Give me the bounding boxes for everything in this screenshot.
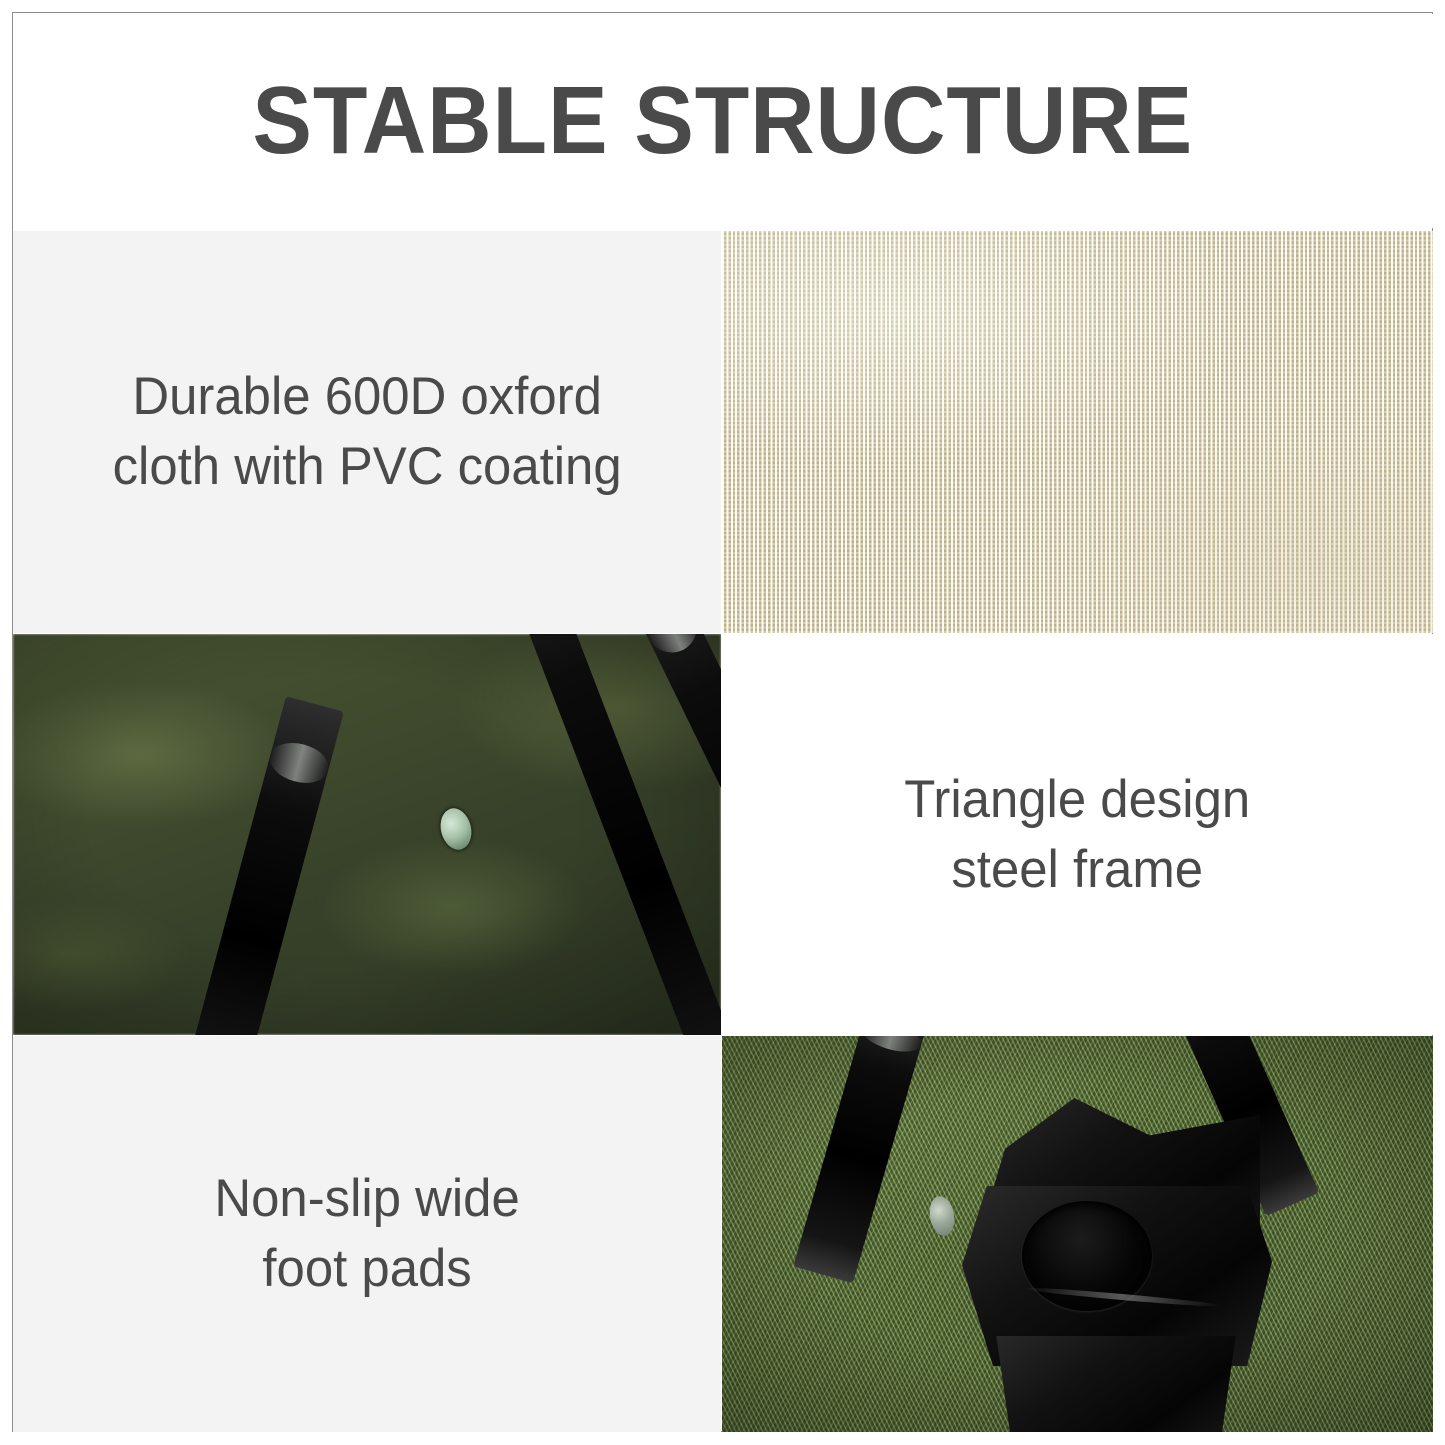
feature-label-line-2: cloth with PVC coating [112,432,621,502]
feature-label-oxford-cloth: Durable 600D oxford cloth with PVC coati… [112,362,621,502]
page-title: STABLE STRUCTURE [253,73,1194,169]
feature-label-line-2: foot pads [214,1234,519,1304]
feature-text-panel-steel-frame: Triangle design steel frame [722,634,1433,1035]
feature-label-line-1: Triangle design [904,765,1250,835]
feature-text-panel-oxford-cloth: Durable 600D oxford cloth with PVC coati… [13,231,721,633]
feature-text-panel-foot-pads: Non-slip wide foot pads [13,1036,721,1432]
feature-image-panel-foot-pads [722,1036,1433,1432]
feature-image-panel-oxford-cloth [722,231,1433,633]
feature-label-line-1: Durable 600D oxford [112,362,621,432]
infographic-page: STABLE STRUCTURE Durable 600D oxford clo… [0,0,1445,1445]
foot-pad-base [980,1336,1252,1432]
feature-image-panel-steel-frame [13,634,721,1035]
feature-label-steel-frame: Triangle design steel frame [904,765,1250,905]
feature-label-foot-pads: Non-slip wide foot pads [214,1164,519,1304]
title-bar: STABLE STRUCTURE [13,14,1433,228]
oxford-fabric-swatch [722,231,1433,633]
feature-label-line-1: Non-slip wide [214,1164,519,1234]
feature-label-line-2: steel frame [904,835,1250,905]
